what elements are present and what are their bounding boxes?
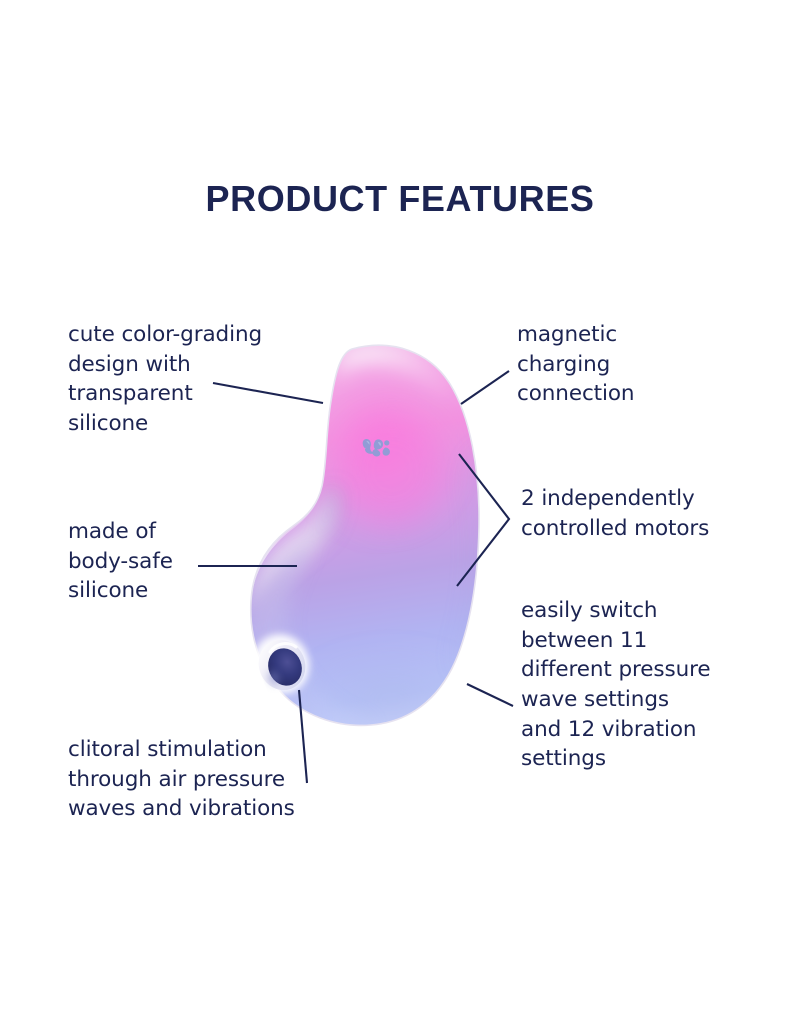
callout-cute-color-grading-design: cute color-grading design with transpare…	[68, 320, 318, 439]
callout-pressure-and-vibration-settings: easily switch between 11 different press…	[521, 596, 761, 774]
callout-body-safe-silicone: made of body-safe silicone	[68, 517, 298, 606]
product-features-infographic: PRODUCT FEATURES cute color-grading desi…	[0, 0, 800, 1016]
page-title: PRODUCT FEATURES	[0, 178, 800, 220]
callout-magnetic-charging-connection: magnetic charging connection	[517, 320, 747, 409]
bottom-shading	[300, 654, 484, 746]
pink-core-glow-inner	[336, 412, 448, 528]
callout-clitoral-stimulation: clitoral stimulation through air pressur…	[68, 735, 338, 824]
callout-two-independent-motors: 2 independently controlled motors	[521, 484, 761, 543]
